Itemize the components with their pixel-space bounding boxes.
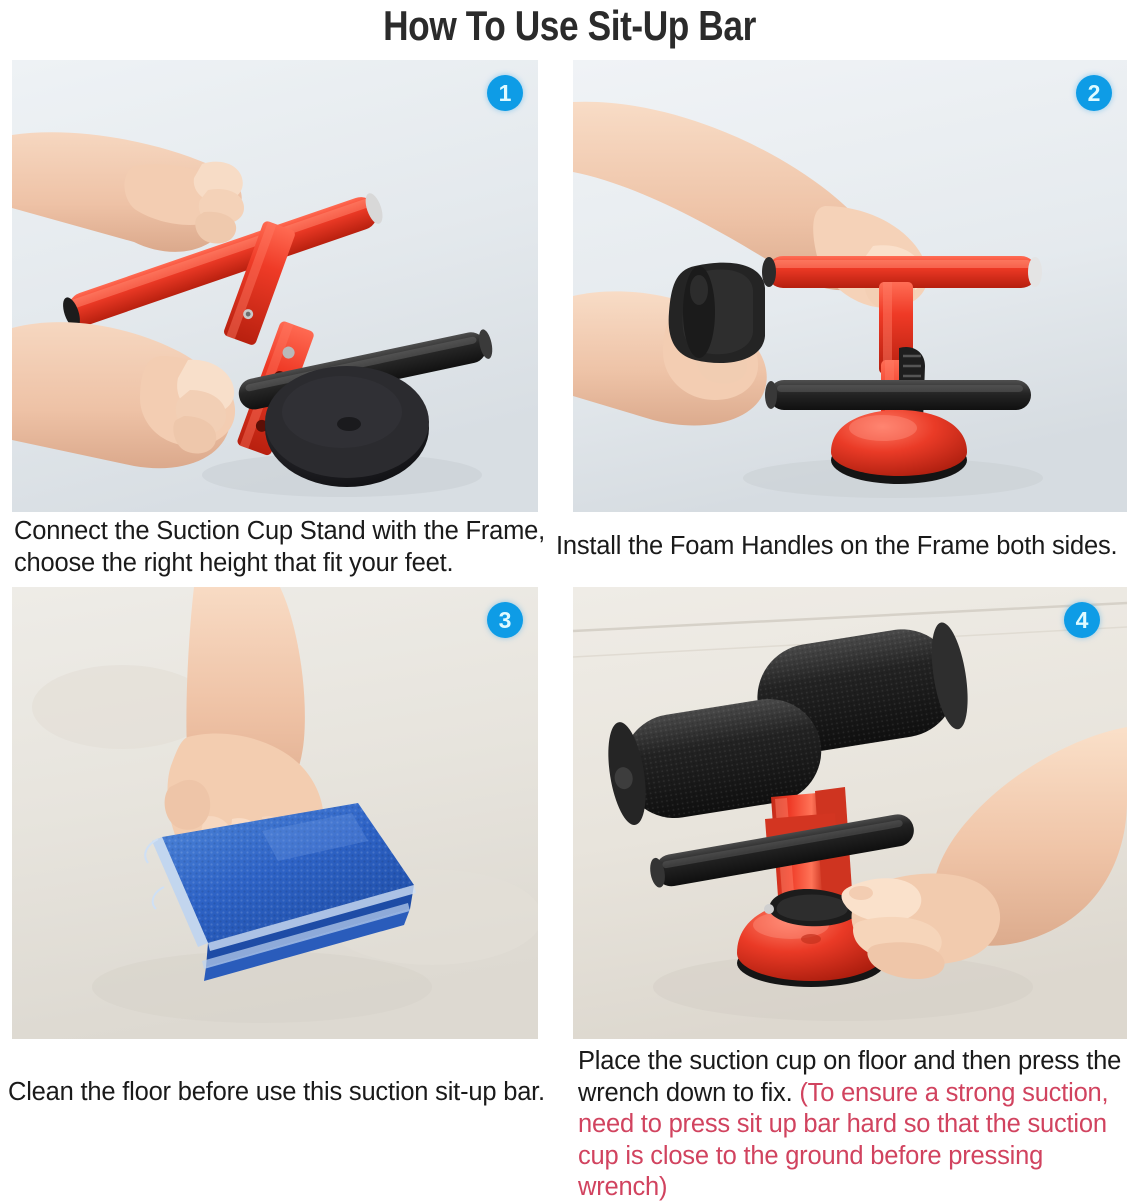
step-1-photo	[12, 60, 538, 512]
step-4-photo	[573, 587, 1127, 1039]
step-3-caption: Clean the floor before use this suction …	[8, 1077, 568, 1109]
step-badge-3: 3	[487, 602, 523, 638]
step-2-photo	[573, 60, 1127, 512]
caption-segment: Connect the Suction Cup Stand with the F…	[14, 517, 545, 577]
step-3-photo	[12, 587, 538, 1039]
step-4-caption: Place the suction cup on floor and then …	[578, 1046, 1138, 1204]
step-badge-4: 4	[1064, 602, 1100, 638]
page-title: How To Use Sit-Up Bar	[91, 2, 1048, 50]
caption-segment: Clean the floor before use this suction …	[8, 1078, 545, 1106]
infographic-page: How To Use Sit-Up Bar	[0, 0, 1139, 1179]
step-badge-2: 2	[1076, 75, 1112, 111]
step-2-caption: Install the Foam Handles on the Frame bo…	[556, 531, 1139, 563]
step-badge-1: 1	[487, 75, 523, 111]
step-1-caption: Connect the Suction Cup Stand with the F…	[14, 516, 559, 579]
caption-segment: Install the Foam Handles on the Frame bo…	[556, 532, 1117, 560]
